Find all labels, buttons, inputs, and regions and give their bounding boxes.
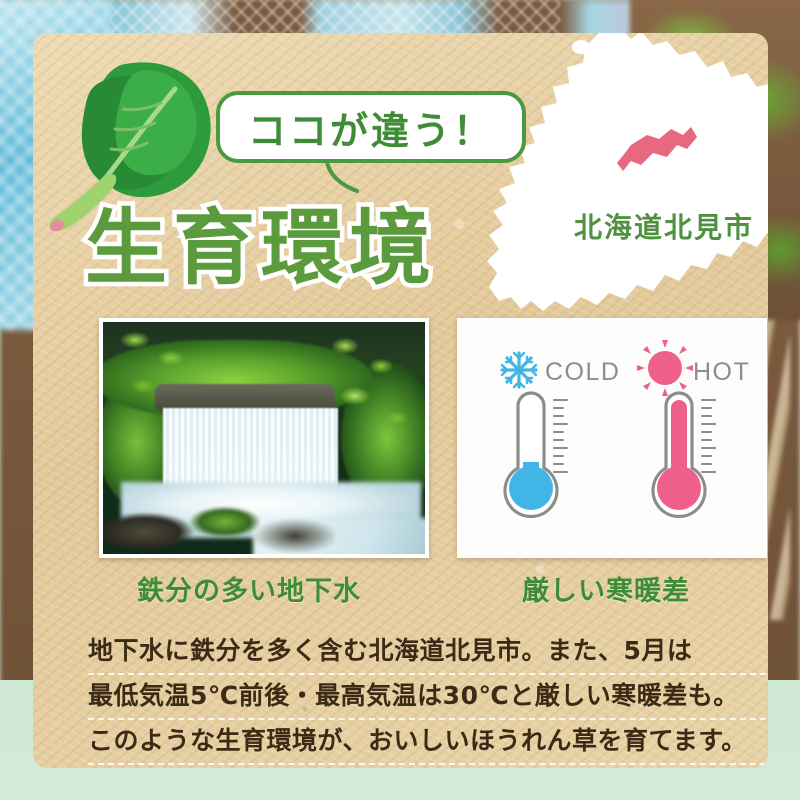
infographic-stage: ココが違う！ 生育環境 北海道北見市	[0, 0, 800, 800]
hot-ticks	[702, 400, 715, 472]
kraft-content-card: ココが違う！ 生育環境 北海道北見市	[33, 33, 768, 768]
caption-temperature: 厳しい寒暖差	[522, 569, 690, 608]
groundwater-photo	[99, 318, 429, 558]
callout-bubble-text: ココが違う！	[248, 100, 494, 155]
sun-icon	[637, 340, 693, 396]
caption-groundwater: 鉄分の多い地下水	[137, 569, 361, 608]
body-line-1: 地下水に鉄分を多く含む北海道北見市。また、5月は	[88, 633, 768, 678]
cold-label: COLD	[545, 358, 620, 386]
page-title: 生育環境	[85, 181, 437, 300]
body-line-2: 最低気温5℃前後・最高気温は30℃と厳しい寒暖差も。	[88, 678, 768, 723]
callout-bubble: ココが違う！	[216, 91, 526, 163]
hokkaido-map-icon	[481, 33, 768, 325]
hot-label: HOT	[693, 358, 750, 386]
thermometer-illustration: COLD	[457, 318, 767, 558]
snowflake-icon	[502, 353, 536, 387]
region-label: 北海道北見市	[574, 206, 754, 246]
body-line-3: このような生育環境が、おいしいほうれん草を育てます。	[88, 723, 768, 768]
body-paragraph: 地下水に鉄分を多く含む北海道北見市。また、5月は 最低気温5℃前後・最高気温は3…	[88, 633, 768, 768]
cold-ticks	[554, 400, 567, 472]
